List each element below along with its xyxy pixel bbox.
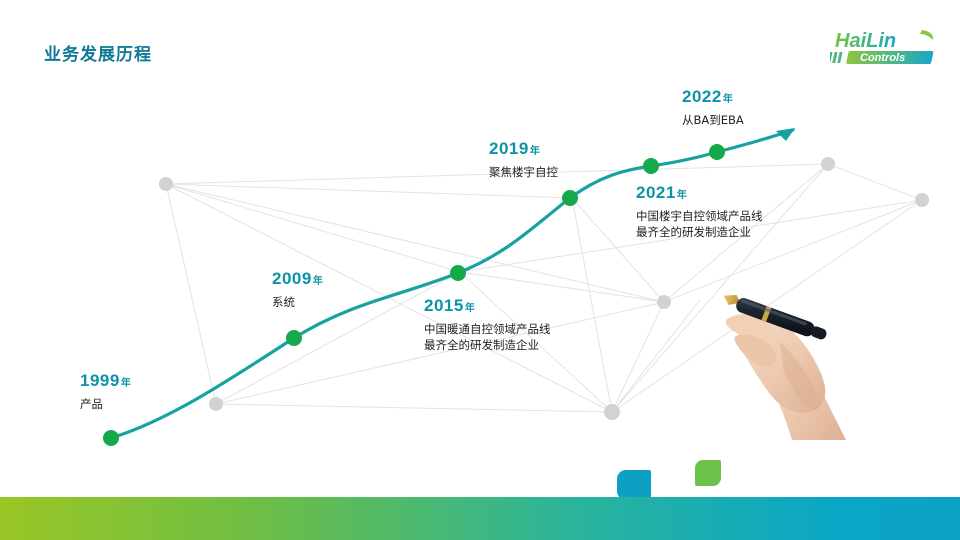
- svg-text:Controls: Controls: [860, 52, 905, 64]
- decorative-square-green: [695, 460, 721, 486]
- milestone-year-2009: 2009年: [272, 270, 323, 289]
- milestone-desc-1999: 产品: [80, 396, 131, 413]
- hailin-controls-logo: HaiLin Controls: [830, 26, 946, 68]
- milestone-label-2009: 2009年 系统: [272, 270, 323, 310]
- milestone-label-1999: 1999年 产品: [80, 372, 131, 412]
- milestone-year-1999: 1999年: [80, 372, 131, 391]
- page-title: 业务发展历程: [44, 40, 152, 65]
- milestone-desc-2015: 中国暖通自控领域产品线 最齐全的研发制造企业: [424, 321, 551, 354]
- growth-curve-graphic: [0, 0, 960, 540]
- svg-text:HaiLin: HaiLin: [835, 30, 896, 52]
- bottom-gradient-bar: [0, 497, 960, 540]
- milestone-desc-2022: 从BA到EBA: [682, 112, 744, 129]
- milestone-year-2021: 2021年: [636, 184, 763, 203]
- slide-canvas: 业务发展历程 HaiLin Co: [0, 0, 960, 540]
- milestone-label-2015: 2015年 中国暖通自控领域产品线 最齐全的研发制造企业: [424, 297, 551, 354]
- milestone-label-2022: 2022年 从BA到EBA: [682, 88, 744, 128]
- milestone-desc-2021: 中国楼宇自控领域产品线 最齐全的研发制造企业: [636, 208, 763, 241]
- milestone-desc-2019: 聚焦楼宇自控: [489, 164, 558, 181]
- milestone-label-2019: 2019年 聚焦楼宇自控: [489, 140, 558, 180]
- milestone-desc-2009: 系统: [272, 294, 323, 311]
- decorative-square-blue: [617, 470, 651, 500]
- milestone-year-2019: 2019年: [489, 140, 558, 159]
- milestone-year-2022: 2022年: [682, 88, 744, 107]
- milestone-year-2015: 2015年: [424, 297, 551, 316]
- milestone-label-2021: 2021年 中国楼宇自控领域产品线 最齐全的研发制造企业: [636, 184, 763, 241]
